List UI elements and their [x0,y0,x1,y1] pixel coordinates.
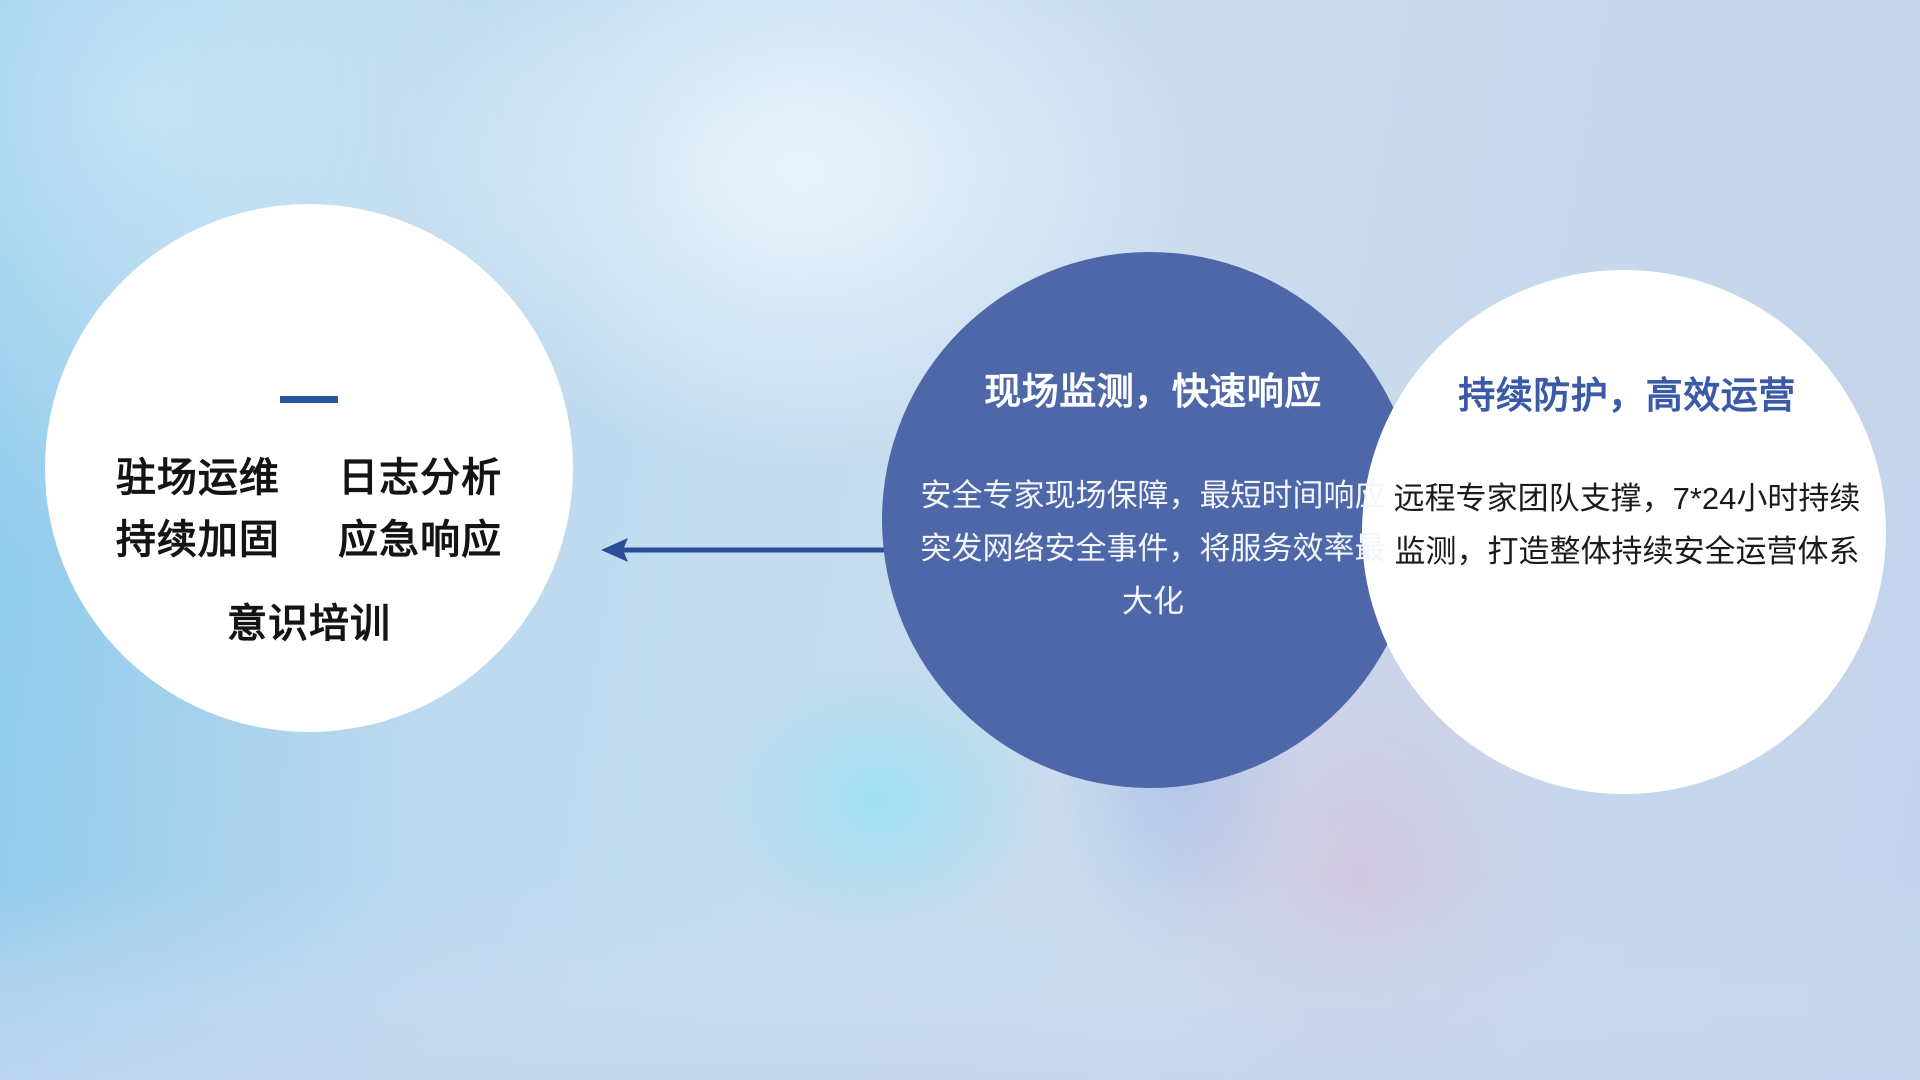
left-capability-circle[interactable]: 驻场运维 日志分析 持续加固 应急响应 意识培训 [45,204,573,732]
background-floor-gradient [0,880,1920,1080]
keyword-item: 应急响应 [338,518,502,562]
middle-circle-body: 安全专家现场保障，最短时间响应突发网络安全事件，将服务效率最大化 [918,469,1388,628]
keyword-row: 意识培训 [116,593,502,655]
keyword-item: 意识培训 [227,602,391,646]
divider-dash-icon [280,396,338,403]
keyword-item: 日志分析 [338,456,502,500]
right-circle-content: 持续防护，高效运营 远程专家团队支撑，7*24小时持续监测，打造整体持续安全运营… [1384,372,1870,578]
keyword-row: 驻场运维 日志分析 [116,447,502,509]
keyword-item: 持续加固 [116,518,280,562]
keyword-row: 持续加固 应急响应 [116,509,502,571]
middle-circle-content: 现场监测，快速响应 安全专家现场保障，最短时间响应突发网络安全事件，将服务效率最… [918,368,1388,628]
infographic-canvas: 驻场运维 日志分析 持续加固 应急响应 意识培训 现场监测，快速响应 安全专家现… [0,0,1920,1080]
middle-circle-title: 现场监测，快速响应 [918,368,1388,416]
keyword-item: 驻场运维 [116,456,280,500]
right-circle-title: 持续防护，高效运营 [1384,372,1870,420]
flow-arrow-icon [598,528,898,572]
left-keyword-list: 驻场运维 日志分析 持续加固 应急响应 意识培训 [116,447,502,655]
right-circle-body: 远程专家团队支撑，7*24小时持续监测，打造整体持续安全运营体系 [1384,472,1870,578]
